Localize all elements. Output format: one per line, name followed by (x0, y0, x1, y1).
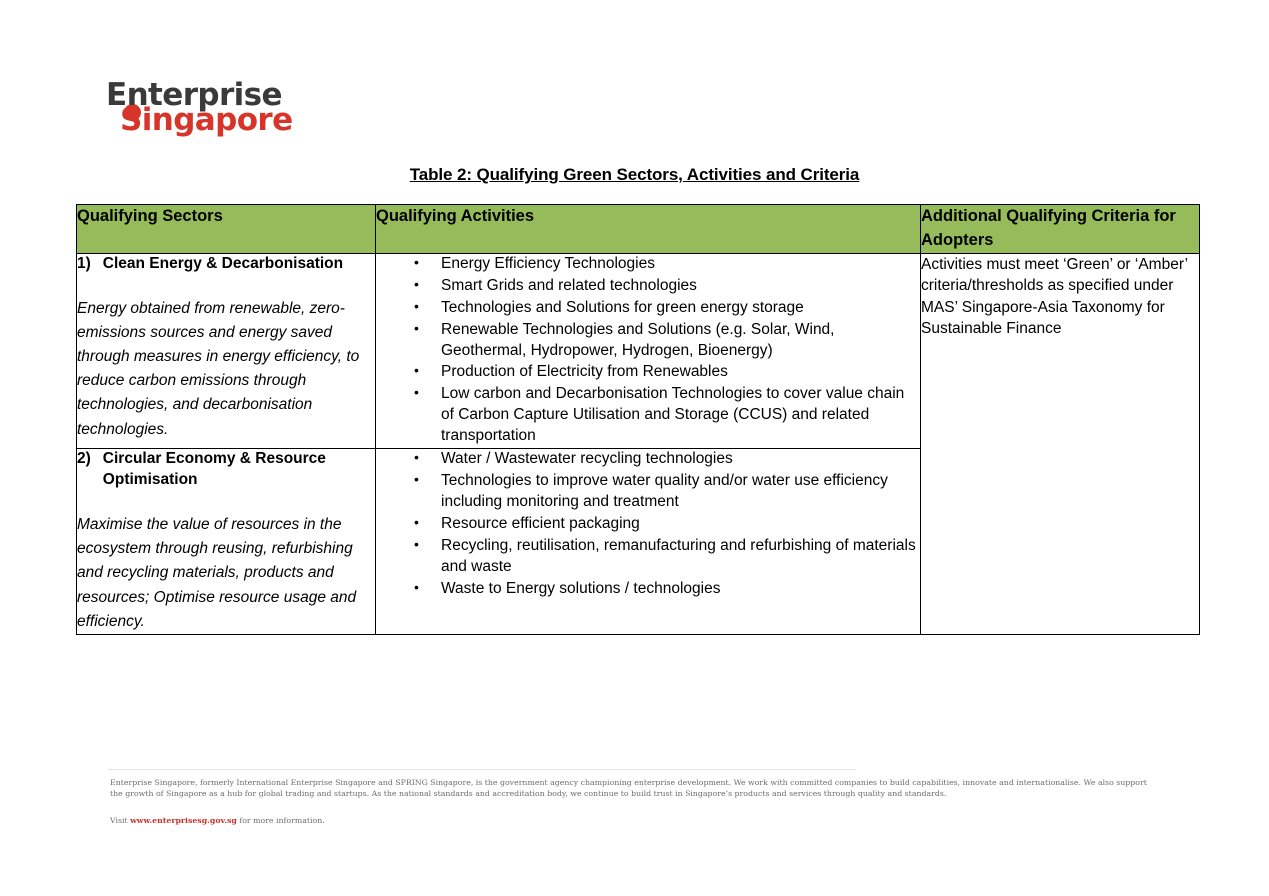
table-header-row: Qualifying Sectors Qualifying Activities… (77, 205, 1200, 254)
sector-cell-2: 2) Circular Economy & Resource Optimisat… (77, 449, 376, 635)
list-item: Technologies to improve water quality an… (414, 471, 920, 513)
list-item: Water / Wastewater recycling technologie… (414, 449, 920, 470)
sector-name-2: Circular Economy & Resource Optimisation (103, 449, 375, 491)
footer-website-link[interactable]: www.enterprisesg.gov.sg (130, 816, 237, 825)
sector-number-1: 1) (77, 254, 91, 275)
column-header-qualifying-sectors: Qualifying Sectors (77, 205, 376, 254)
page-title: Table 2: Qualifying Green Sectors, Activ… (0, 165, 1269, 185)
qualifying-green-sectors-table: Qualifying Sectors Qualifying Activities… (76, 204, 1199, 635)
table-row: 1) Clean Energy & Decarbonisation Energy… (77, 253, 1200, 448)
activities-cell-2: Water / Wastewater recycling technologie… (376, 449, 921, 635)
footer-visit-line: Visit www.enterprisesg.gov.sg for more i… (110, 816, 325, 825)
list-item: Recycling, reutilisation, remanufacturin… (414, 536, 920, 578)
sector-description-1: Energy obtained from renewable, zero-emi… (77, 297, 375, 442)
activities-list-2: Water / Wastewater recycling technologie… (376, 449, 920, 599)
list-item: Production of Electricity from Renewable… (414, 362, 920, 383)
column-header-qualifying-activities: Qualifying Activities (376, 205, 921, 254)
list-item: Energy Efficiency Technologies (414, 254, 920, 275)
criteria-text: Activities must meet ‘Green’ or ‘Amber’ … (921, 254, 1199, 340)
sector-number-2: 2) (77, 449, 91, 491)
logo-text-singapore: Singapore (120, 105, 293, 136)
list-item: Low carbon and Decarbonisation Technolog… (414, 384, 920, 447)
enterprise-singapore-logo: Enterprise Singapore (106, 80, 326, 150)
list-item: Waste to Energy solutions / technologies (414, 579, 920, 600)
sector-heading-2: 2) Circular Economy & Resource Optimisat… (77, 449, 375, 491)
list-item: Renewable Technologies and Solutions (e.… (414, 320, 920, 362)
sector-description-2: Maximise the value of resources in the e… (77, 513, 375, 634)
list-item: Smart Grids and related technologies (414, 276, 920, 297)
activities-cell-1: Energy Efficiency Technologies Smart Gri… (376, 253, 921, 448)
activities-list-1: Energy Efficiency Technologies Smart Gri… (376, 254, 920, 447)
footer-visit-prefix: Visit (110, 816, 130, 825)
sector-heading-1: 1) Clean Energy & Decarbonisation (77, 254, 375, 275)
criteria-cell: Activities must meet ‘Green’ or ‘Amber’ … (921, 253, 1200, 634)
sector-name-1: Clean Energy & Decarbonisation (103, 254, 375, 275)
list-item: Resource efficient packaging (414, 514, 920, 535)
list-item: Technologies and Solutions for green ene… (414, 298, 920, 319)
footer-visit-suffix: for more information. (237, 816, 325, 825)
footer-paragraph: Enterprise Singapore, formerly Internati… (110, 777, 1150, 800)
footer-divider (108, 769, 855, 770)
column-header-additional-criteria: Additional Qualifying Criteria for Adopt… (921, 205, 1200, 254)
sector-cell-1: 1) Clean Energy & Decarbonisation Energy… (77, 253, 376, 448)
